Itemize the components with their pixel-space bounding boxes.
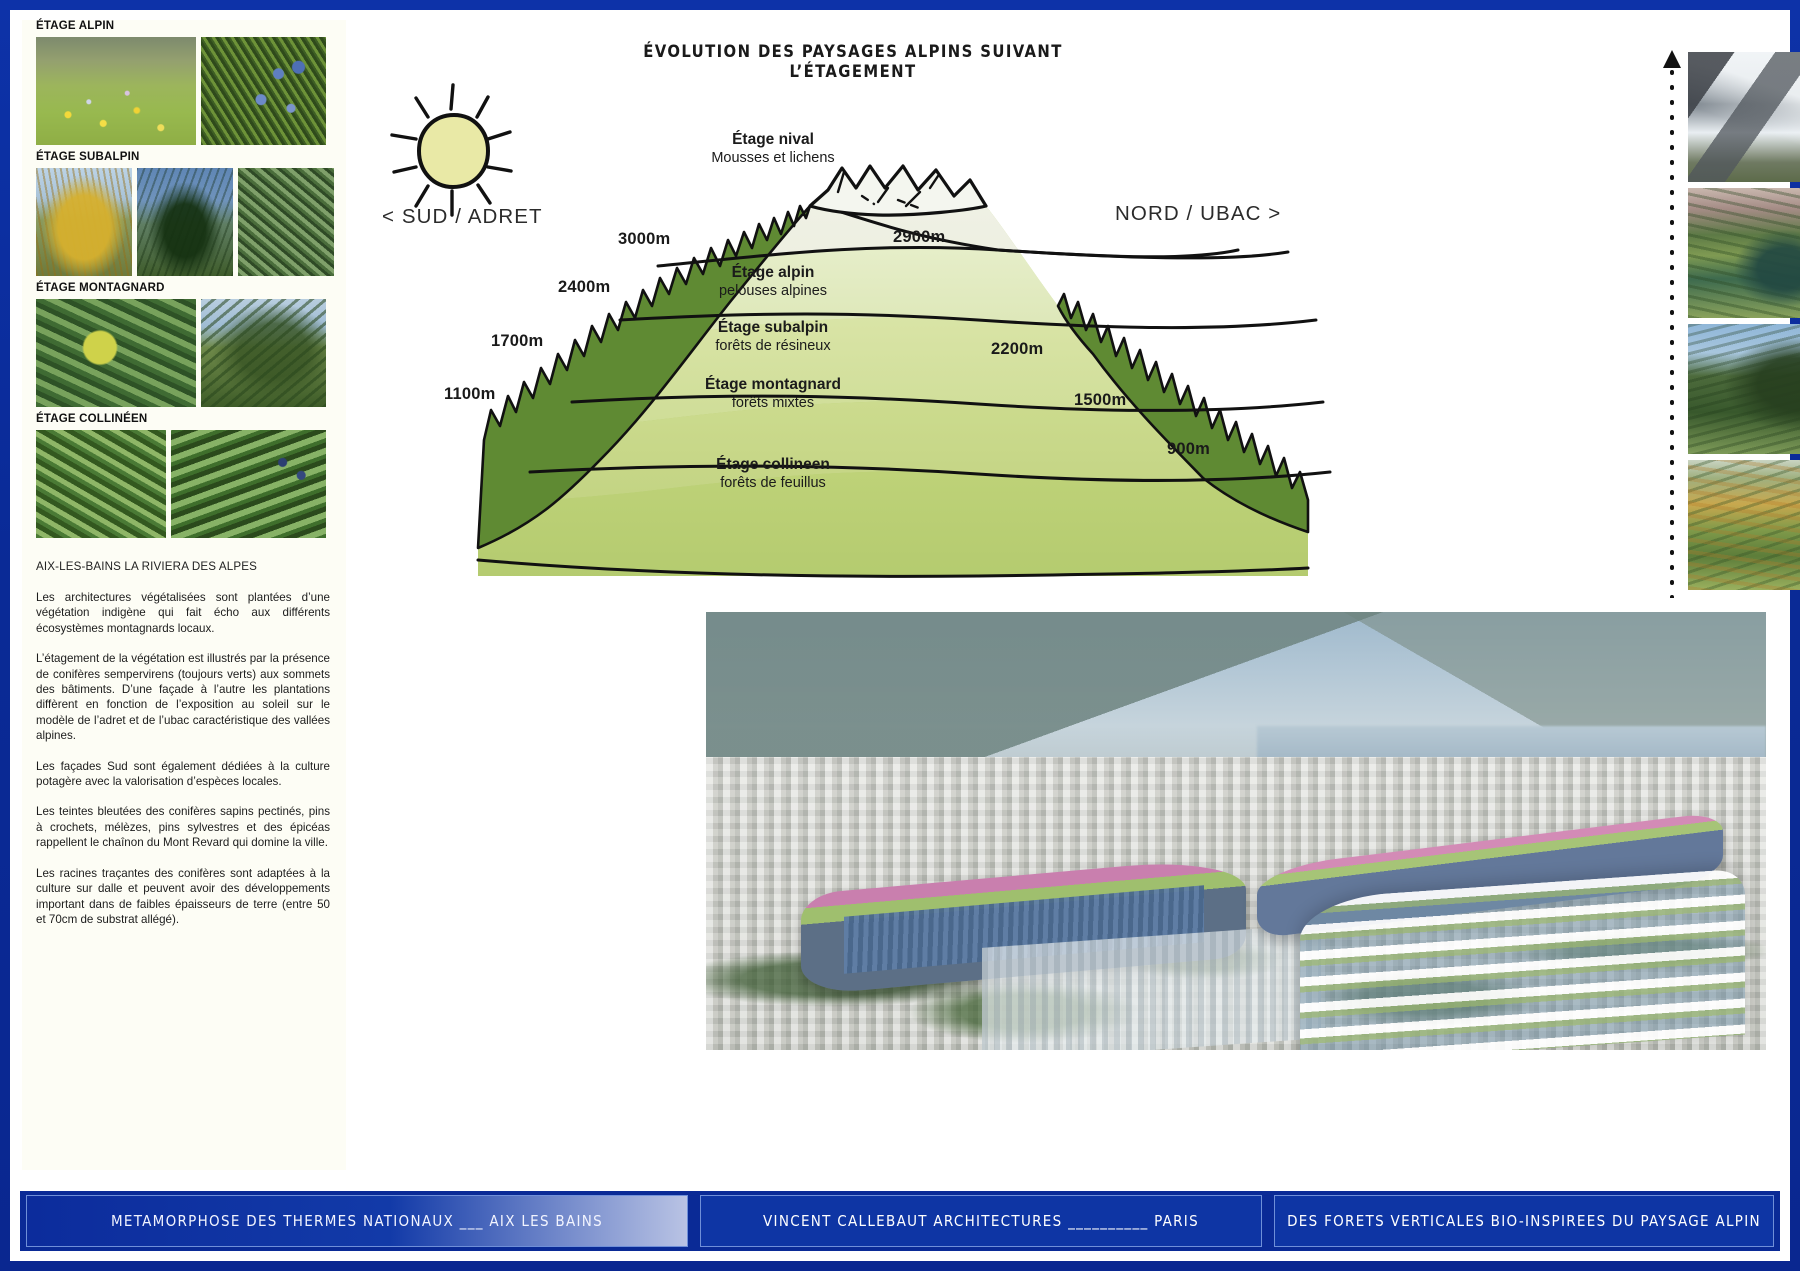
fir-needles-photo	[238, 168, 334, 276]
altitude-label-ubac-2200: 2200m	[991, 340, 1043, 359]
rocky-summit-snow-photo	[1688, 52, 1800, 182]
render-terraced-building	[1300, 868, 1745, 1050]
description-text-block: AIX-LES-BAINS LA RIVIERA DES ALPES Les a…	[36, 560, 330, 927]
right-area: ÉVOLUTION DES PAYSAGES ALPINS SUIVANT L’…	[358, 20, 1778, 1170]
photo-row	[36, 430, 346, 538]
footer-office-name: VINCENT CALLEBAUT ARCHITECTURES ________…	[700, 1195, 1262, 1247]
spruce-tree-photo	[137, 168, 233, 276]
photo-row	[36, 168, 346, 276]
aerial-render-aix-les-bains-green-roofs	[706, 612, 1766, 1050]
description-paragraph: Les façades Sud sont également dédiées à…	[36, 759, 330, 790]
description-paragraph: Les architectures végétalisées sont plan…	[36, 590, 330, 636]
altitude-label-ubac-900: 900m	[1167, 440, 1210, 459]
ash-leaves-photo	[171, 430, 326, 538]
photo-row	[36, 37, 346, 145]
altitudinal-zonation-diagram: ÉVOLUTION DES PAYSAGES ALPINS SUIVANT L’…	[358, 20, 1348, 592]
board-sheet: ÉTAGE ALPIN ÉTAGE SUBALPIN ÉTAGE MONTAGN…	[10, 10, 1790, 1261]
up-arrow-dotted-axis	[1663, 50, 1681, 598]
left-column: ÉTAGE ALPIN ÉTAGE SUBALPIN ÉTAGE MONTAGN…	[22, 20, 346, 1170]
photo-group-alpin: ÉTAGE ALPIN	[36, 20, 346, 145]
alpine-meadow-flowers-photo	[36, 37, 196, 145]
photo-group-title: ÉTAGE MONTAGNARD	[36, 282, 346, 294]
altitude-label-adret-2400: 2400m	[558, 278, 610, 297]
description-paragraph: L’étagement de la végétation est illustr…	[36, 651, 330, 743]
footer-project-title: METAMORPHOSE DES THERMES NATIONAUX ___ A…	[26, 1195, 688, 1247]
photo-group-collineen: ÉTAGE COLLINÉEN	[36, 413, 346, 538]
photo-group-title: ÉTAGE SUBALPIN	[36, 151, 346, 163]
description-paragraph: Les teintes bleutées des conifères sapin…	[36, 804, 330, 850]
forested-ridge-photo	[1688, 324, 1800, 454]
description-title: AIX-LES-BAINS LA RIVIERA DES ALPES	[36, 560, 330, 573]
photo-group-montagnard: ÉTAGE MONTAGNARD	[36, 282, 346, 407]
photo-group-title: ÉTAGE ALPIN	[36, 20, 346, 32]
altitude-label-adret-1700: 1700m	[491, 332, 543, 351]
alpine-pasture-tarn-photo	[1688, 188, 1800, 318]
altitude-label-ubac-1500: 1500m	[1074, 391, 1126, 410]
autumn-larch-photo	[36, 168, 132, 276]
scots-pine-photo	[201, 299, 326, 407]
right-photo-strip	[1688, 52, 1800, 596]
footer-bar: METAMORPHOSE DES THERMES NATIONAUX ___ A…	[20, 1191, 1780, 1251]
footer-tagline: DES FORETS VERTICALES BIO-INSPIREES DU P…	[1274, 1195, 1774, 1247]
altitude-label-adret-1100: 1100m	[444, 385, 495, 404]
photo-group-title: ÉTAGE COLLINÉEN	[36, 413, 346, 425]
photo-row	[36, 299, 346, 407]
presentation-board: ÉTAGE ALPIN ÉTAGE SUBALPIN ÉTAGE MONTAGN…	[0, 0, 1800, 1271]
autumn-valley-forest-photo	[1688, 460, 1800, 590]
description-paragraph: Les racines traçantes des conifères sont…	[36, 866, 330, 928]
altitude-label-ubac-2900: 2900m	[893, 228, 945, 247]
mountain-cross-section	[358, 20, 1348, 592]
photo-group-subalpin: ÉTAGE SUBALPIN	[36, 151, 346, 276]
altitude-label-adret-3000: 3000m	[618, 230, 670, 249]
juniper-berries-photo	[201, 37, 326, 145]
chestnut-leaves-photo	[36, 299, 196, 407]
oak-leaves-photo	[36, 430, 166, 538]
